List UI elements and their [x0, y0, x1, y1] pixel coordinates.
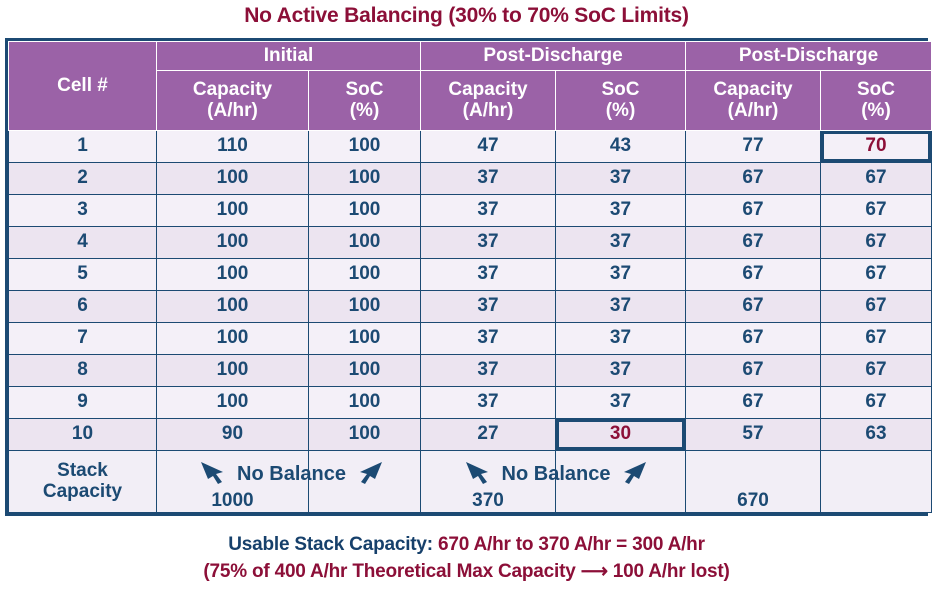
header-label-line1: SoC — [602, 79, 640, 100]
value-post2-capacity: 67 — [686, 322, 821, 354]
battery-cell-table: Cell # Initial Post-Discharge Post-Disch… — [8, 41, 932, 513]
value-post1-capacity: 47 — [421, 130, 556, 162]
value-post2-capacity: 57 — [686, 418, 821, 450]
value-initial-soc: 100 — [309, 290, 421, 322]
value-post1-soc: 37 — [556, 386, 686, 418]
header-label-line2: (%) — [309, 101, 420, 122]
value-post1-soc: 37 — [556, 258, 686, 290]
table-group-header-row: Cell # Initial Post-Discharge Post-Disch… — [9, 42, 932, 71]
value-initial-capacity: 100 — [157, 290, 309, 322]
value-initial-soc: 100 — [309, 354, 421, 386]
value-initial-soc: 100 — [309, 194, 421, 226]
table-row: 710010037376767 — [9, 322, 932, 354]
value-initial-soc: 100 — [309, 226, 421, 258]
value-post2-soc: 67 — [821, 194, 932, 226]
stack-post1-soc — [556, 450, 686, 512]
value-initial-capacity: 100 — [157, 354, 309, 386]
cell-number: 6 — [9, 290, 157, 322]
table-row: 610010037376767 — [9, 290, 932, 322]
cell-number: 10 — [9, 418, 157, 450]
value-initial-soc: 100 — [309, 386, 421, 418]
table-row: 111010047437770 — [9, 130, 932, 162]
header-label-line2: (A/hr) — [157, 101, 308, 122]
cell-number: 5 — [9, 258, 157, 290]
stack-initial-soc — [309, 450, 421, 512]
value-post1-soc: 37 — [556, 322, 686, 354]
cell-number: 3 — [9, 194, 157, 226]
cell-number: 1 — [9, 130, 157, 162]
value-post1-soc: 37 — [556, 226, 686, 258]
value-post1-capacity: 37 — [421, 354, 556, 386]
stack-post2-soc — [821, 450, 932, 512]
value-initial-soc: 100 — [309, 162, 421, 194]
value-initial-capacity: 100 — [157, 162, 309, 194]
value-initial-capacity: 100 — [157, 258, 309, 290]
header-post1-soc: SoC (%) — [556, 71, 686, 131]
value-post2-soc: 67 — [821, 322, 932, 354]
header-initial-soc: SoC (%) — [309, 71, 421, 131]
page-title: No Active Balancing (30% to 70% SoC Limi… — [0, 4, 933, 28]
caption: Usable Stack Capacity: 670 A/hr to 370 A… — [0, 532, 933, 586]
table-row: 109010027305763 — [9, 418, 932, 450]
table-row: 210010037376767 — [9, 162, 932, 194]
header-post1-capacity: Capacity (A/hr) — [421, 71, 556, 131]
value-initial-capacity: 100 — [157, 386, 309, 418]
value-post1-soc: 30 — [556, 418, 686, 450]
value-post1-capacity: 37 — [421, 386, 556, 418]
value-post2-capacity: 67 — [686, 226, 821, 258]
battery-cell-table-container: Cell # Initial Post-Discharge Post-Disch… — [5, 38, 928, 516]
header-post2-soc: SoC (%) — [821, 71, 932, 131]
header-label-line2: (A/hr) — [421, 101, 555, 122]
caption-line-1: Usable Stack Capacity: 670 A/hr to 370 A… — [0, 532, 933, 559]
value-post2-capacity: 77 — [686, 130, 821, 162]
stack-capacity-row: StackCapacity1000370670 — [9, 450, 932, 512]
value-post1-capacity: 27 — [421, 418, 556, 450]
value-initial-capacity: 110 — [157, 130, 309, 162]
header-label-line1: SoC — [346, 79, 384, 100]
stack-label-line2: Capacity — [9, 481, 156, 503]
value-post1-soc: 37 — [556, 290, 686, 322]
header-group-initial: Initial — [157, 42, 421, 71]
value-post2-soc: 67 — [821, 386, 932, 418]
value-initial-soc: 100 — [309, 130, 421, 162]
value-post1-soc: 37 — [556, 194, 686, 226]
header-cell-number: Cell # — [9, 42, 157, 131]
header-group-post-discharge-1: Post-Discharge — [421, 42, 686, 71]
cell-number: 2 — [9, 162, 157, 194]
value-post2-capacity: 67 — [686, 354, 821, 386]
value-initial-soc: 100 — [309, 418, 421, 450]
header-label-line2: (A/hr) — [686, 101, 820, 122]
value-post2-soc: 63 — [821, 418, 932, 450]
stack-label-line1: Stack — [57, 460, 108, 481]
header-label-line2: (%) — [556, 101, 685, 122]
value-initial-capacity: 90 — [157, 418, 309, 450]
table-row: 810010037376767 — [9, 354, 932, 386]
value-post2-capacity: 67 — [686, 194, 821, 226]
value-post2-soc: 67 — [821, 258, 932, 290]
value-post2-soc: 67 — [821, 226, 932, 258]
value-post1-soc: 43 — [556, 130, 686, 162]
slide-page: No Active Balancing (30% to 70% SoC Limi… — [0, 0, 933, 599]
value-post2-capacity: 67 — [686, 386, 821, 418]
table-row: 310010037376767 — [9, 194, 932, 226]
stack-initial-capacity: 1000 — [157, 450, 309, 512]
stack-capacity-label: StackCapacity — [9, 450, 157, 512]
value-post1-capacity: 37 — [421, 194, 556, 226]
value-post1-capacity: 37 — [421, 322, 556, 354]
value-initial-soc: 100 — [309, 322, 421, 354]
cell-number: 8 — [9, 354, 157, 386]
value-post1-capacity: 37 — [421, 226, 556, 258]
header-label-line1: Capacity — [448, 79, 527, 100]
table-row: 410010037376767 — [9, 226, 932, 258]
value-post2-capacity: 67 — [686, 162, 821, 194]
value-post2-soc: 67 — [821, 354, 932, 386]
cell-number: 7 — [9, 322, 157, 354]
stack-post1-capacity: 370 — [421, 450, 556, 512]
value-post2-capacity: 67 — [686, 290, 821, 322]
value-post1-soc: 37 — [556, 354, 686, 386]
value-post2-soc: 67 — [821, 290, 932, 322]
value-post1-capacity: 37 — [421, 258, 556, 290]
value-post2-capacity: 67 — [686, 258, 821, 290]
caption-line1-red: 670 A/hr to 370 A/hr = 300 A/hr — [433, 534, 705, 555]
stack-post2-capacity: 670 — [686, 450, 821, 512]
cell-number: 4 — [9, 226, 157, 258]
value-initial-capacity: 100 — [157, 322, 309, 354]
header-label-line1: Capacity — [713, 79, 792, 100]
value-post2-soc: 67 — [821, 162, 932, 194]
caption-line-2: (75% of 400 A/hr Theoretical Max Capacit… — [0, 559, 933, 586]
header-initial-capacity: Capacity (A/hr) — [157, 71, 309, 131]
caption-line1-blue: Usable Stack Capacity: — [228, 534, 433, 555]
header-group-post-discharge-2: Post-Discharge — [686, 42, 932, 71]
table-row: 910010037376767 — [9, 386, 932, 418]
value-post1-capacity: 37 — [421, 290, 556, 322]
table-row: 510010037376767 — [9, 258, 932, 290]
value-post1-capacity: 37 — [421, 162, 556, 194]
header-post2-capacity: Capacity (A/hr) — [686, 71, 821, 131]
value-initial-soc: 100 — [309, 258, 421, 290]
value-post1-soc: 37 — [556, 162, 686, 194]
value-initial-capacity: 100 — [157, 194, 309, 226]
value-initial-capacity: 100 — [157, 226, 309, 258]
header-label-line1: SoC — [857, 79, 895, 100]
header-label-line1: Capacity — [193, 79, 272, 100]
value-post2-soc: 70 — [821, 130, 932, 162]
cell-number: 9 — [9, 386, 157, 418]
header-label-line2: (%) — [821, 101, 931, 122]
